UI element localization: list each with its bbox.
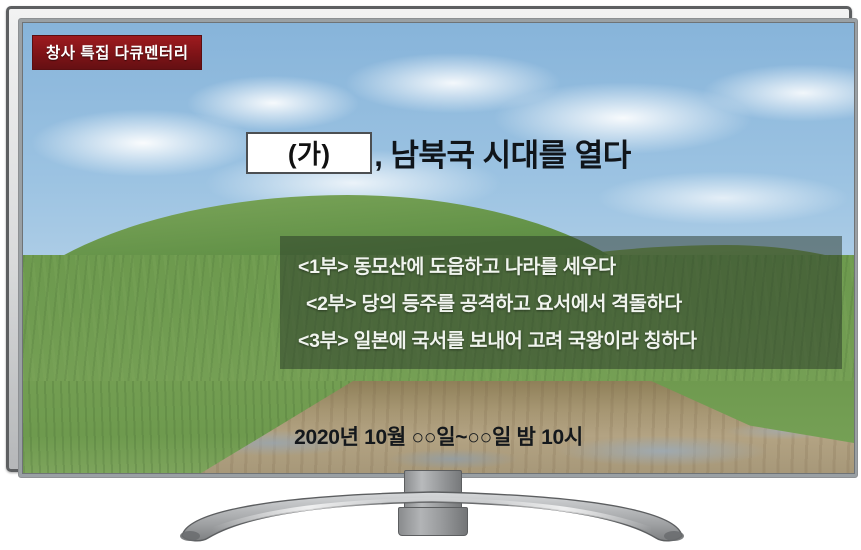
program-category-banner: 창사 특집 다큐멘터리 xyxy=(32,35,202,70)
poster-canvas: 창사 특집 다큐멘터리 (가) , 남북국 시대를 열다 <1부> 동모산에 도… xyxy=(0,0,861,550)
tv-stand-neck-lower xyxy=(398,507,468,536)
tv-screen: 창사 특집 다큐멘터리 (가) , 남북국 시대를 열다 <1부> 동모산에 도… xyxy=(22,22,855,474)
title-blank-box: (가) xyxy=(246,132,372,174)
episode-item-1: <1부> 동모산에 도읍하고 나라를 세우다 xyxy=(280,246,842,283)
title-remainder: , 남북국 시대를 열다 xyxy=(374,130,631,175)
broadcast-schedule: 2020년 10월 ○○일~○○일 밤 10시 xyxy=(23,421,854,451)
episode-list-overlay: <1부> 동모산에 도읍하고 나라를 세우다 <2부> 당의 등주를 공격하고 … xyxy=(280,236,842,369)
page-title: (가) , 남북국 시대를 열다 xyxy=(23,130,854,175)
episode-item-3: <3부> 일본에 국서를 보내어 고려 국왕이라 칭하다 xyxy=(280,320,842,357)
tv-outer-bezel: 창사 특집 다큐멘터리 (가) , 남북국 시대를 열다 <1부> 동모산에 도… xyxy=(6,6,852,472)
episode-item-2: <2부> 당의 등주를 공격하고 요서에서 격돌하다 xyxy=(280,283,842,320)
